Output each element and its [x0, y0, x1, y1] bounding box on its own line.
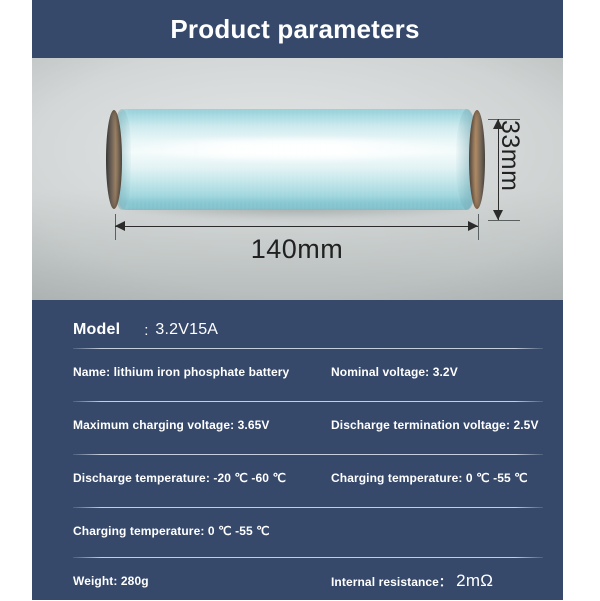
model-label: Model — [73, 321, 120, 339]
model-row: Model : 3.2V15A — [73, 312, 543, 348]
spec-max-charging-voltage-value: Maximum charging voltage: 3.65V — [73, 418, 331, 432]
spec-discharge-temperature-value: Discharge temperature: -20 ℃ -60 ℃ — [73, 471, 331, 485]
spec-row-2: Maximum charging voltage: 3.65V Discharg… — [73, 405, 563, 445]
internal-resistance-value: 2mΩ — [456, 571, 493, 590]
spec-charging-temperature-value: Charging temperature: 0 ℃ -55 ℃ — [331, 471, 563, 485]
divider-2 — [73, 401, 543, 402]
spec-internal-resistance: Internal resistance：2mΩ — [331, 571, 563, 591]
spec-row-1: Name: lithium iron phosphate battery Nom… — [73, 352, 563, 392]
spec-name-value: Name: lithium iron phosphate battery — [73, 365, 331, 379]
header-banner: Product parameters — [32, 0, 563, 58]
spec-row-4: Charging temperature: 0 ℃ -55 ℃ — [73, 511, 563, 551]
divider-4 — [73, 507, 543, 508]
internal-resistance-separator: ： — [439, 575, 451, 589]
page-title: Product parameters — [32, 0, 563, 58]
divider-5 — [73, 557, 543, 558]
spec-row-5: Weight: 280g Internal resistance：2mΩ — [73, 561, 563, 601]
model-separator: : — [144, 322, 148, 339]
internal-resistance-label: Internal resistance — [331, 575, 439, 589]
divider-3 — [73, 454, 543, 455]
product-parameters-page: Product parameters 140mm 33mm — [0, 0, 600, 600]
photo-vignette — [32, 58, 563, 300]
spec-discharge-termination-voltage-value: Discharge termination voltage: 2.5V — [331, 418, 563, 432]
spec-nominal-voltage-value: Nominal voltage: 3.2V — [331, 365, 563, 379]
model-value: 3.2V15A — [155, 321, 218, 339]
product-photo: 140mm 33mm — [32, 58, 563, 300]
specifications-panel: Model : 3.2V15A Name: lithium iron phosp… — [32, 300, 563, 600]
spec-charging-temperature-value-2: Charging temperature: 0 ℃ -55 ℃ — [73, 524, 331, 538]
spec-weight-value: Weight: 280g — [73, 574, 331, 588]
spec-row-3: Discharge temperature: -20 ℃ -60 ℃ Charg… — [73, 458, 563, 498]
divider-1 — [73, 348, 543, 349]
